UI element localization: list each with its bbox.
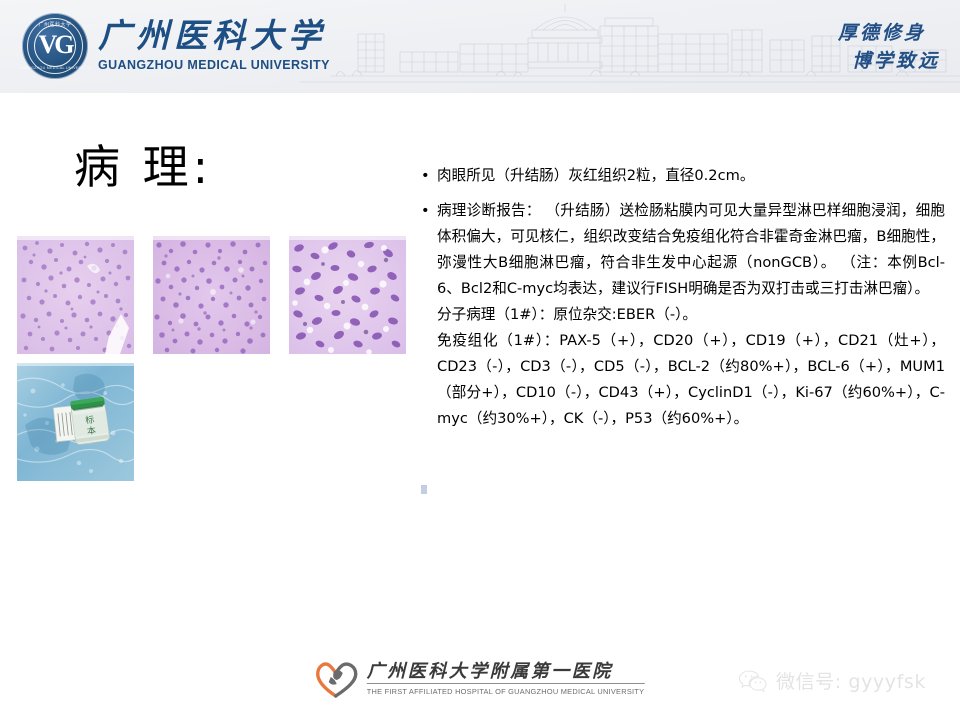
pathology-report-text: • 肉眼所见（升结肠）灰红组织2粒，直径0.2cm。 • 病理诊断报告： （升结…	[415, 163, 945, 441]
page-title: 病 理:	[74, 140, 212, 195]
presentation-slide: 广州医科大学 VG GUANGZHOU MEDICAL UNIVERSITY 广…	[0, 0, 960, 720]
he-stain-thumbnail	[289, 236, 406, 354]
diagnosis-paragraph: 病理诊断报告： （升结肠）送检肠粘膜内可见大量异型淋巴样细胞浸润，细胞体积偏大，…	[437, 198, 945, 302]
he-stain-thumbnail	[153, 236, 270, 354]
motto-line-2: 博学致远	[838, 48, 940, 76]
hospital-name-cn: 广州医科大学附属第一医院	[367, 662, 645, 685]
slide-footer: 广州医科大学附属第一医院 THE FIRST AFFILIATED HOSPIT…	[0, 634, 960, 720]
histology-image-1	[17, 236, 134, 354]
pathology-image-gallery: 标 本	[17, 236, 407, 481]
bullet-marker: •	[415, 163, 437, 189]
emblem-micro-bottom: GUANGZHOU MEDICAL UNIVERSITY	[19, 66, 90, 70]
specimen-photo: 标 本	[17, 363, 134, 481]
university-logo: 广州医科大学 VG GUANGZHOU MEDICAL UNIVERSITY 广…	[22, 13, 330, 79]
university-name-cn: 广州医科大学	[98, 20, 330, 55]
histology-image-3	[289, 236, 406, 354]
specimen-container-image: 标 本	[17, 363, 134, 481]
wechat-watermark: 微信号: gyyyfsk	[738, 667, 926, 694]
bullet-item-gross-findings: • 肉眼所见（升结肠）灰红组织2粒，直径0.2cm。	[415, 163, 945, 189]
wechat-icon	[738, 669, 768, 693]
hospital-name-en: THE FIRST AFFILIATED HOSPITAL OF GUANGZH…	[367, 687, 645, 696]
slide-header-banner: 广州医科大学 VG GUANGZHOU MEDICAL UNIVERSITY 广…	[0, 0, 960, 93]
hospital-heart-icon	[316, 660, 358, 698]
hospital-logo: 广州医科大学附属第一医院 THE FIRST AFFILIATED HOSPIT…	[316, 660, 645, 698]
molecular-pathology-line: 分子病理（1#）：原位杂交:EBER（-）。	[437, 302, 945, 328]
he-stain-thumbnail	[17, 236, 134, 354]
university-name-en: GUANGZHOU MEDICAL UNIVERSITY	[98, 58, 330, 72]
bullet-marker: •	[415, 198, 437, 224]
stray-mark-artifact	[421, 485, 427, 494]
wechat-id-label: 微信号: gyyyfsk	[776, 667, 926, 694]
university-motto: 厚德修身 博学致远	[838, 20, 926, 75]
university-emblem-icon: 广州医科大学 VG GUANGZHOU MEDICAL UNIVERSITY	[22, 13, 88, 79]
motto-line-1: 厚德修身	[838, 20, 926, 48]
bullet-item-diagnosis: • 病理诊断报告： （升结肠）送检肠粘膜内可见大量异型淋巴样细胞浸润，细胞体积偏…	[415, 198, 945, 432]
immunohistochemistry-line: 免疫组化（1#）：PAX-5（+），CD20（+），CD19（+），CD21（灶…	[437, 328, 945, 432]
histology-image-2	[153, 236, 270, 354]
gross-findings-text: 肉眼所见（升结肠）灰红组织2粒，直径0.2cm。	[437, 167, 754, 184]
